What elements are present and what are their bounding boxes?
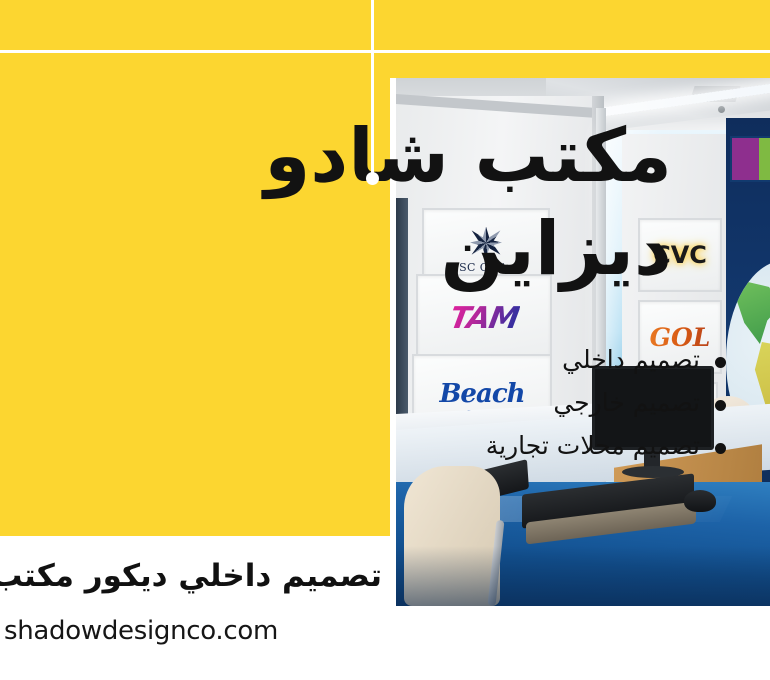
footer-band: تصميم داخلي ديكور مكتب shadowdesignco.co…: [0, 536, 396, 680]
service-label: تصميم محلات تجارية: [486, 431, 700, 460]
service-label: تصميم خارجي: [553, 388, 700, 417]
photo-bottom-shading: [396, 546, 770, 606]
computer-mouse: [684, 490, 716, 512]
map-continent-north: [736, 282, 770, 344]
yellow-top-strip: [390, 0, 770, 78]
line-end-dot: [366, 172, 379, 185]
poster-canvas: MSC Cruises TAM Beach PARK CVC GOL: [0, 0, 770, 680]
list-item: تصميم خارجي: [398, 381, 728, 424]
colour-banner-strip: [730, 136, 770, 182]
vertical-guide-line: [371, 0, 374, 178]
service-label: تصميم داخلي: [562, 345, 700, 374]
list-item: تصميم محلات تجارية: [398, 424, 728, 467]
ceiling-spotlight: [718, 106, 725, 113]
footer-headline: تصميم داخلي ديكور مكتب: [0, 558, 382, 594]
footer-band-right: [396, 606, 770, 680]
sign-label: TAM: [447, 301, 521, 336]
list-item: تصميم داخلي: [398, 338, 728, 381]
banner-panel-3: [759, 138, 770, 180]
website-url[interactable]: shadowdesignco.com: [4, 616, 278, 646]
services-list: تصميم داخلي تصميم خارجي تصميم محلات تجار…: [398, 338, 728, 467]
page-title-line-2: ديزاين: [72, 196, 672, 303]
banner-panel-4: [732, 138, 759, 180]
horizontal-guide-line: [0, 50, 770, 53]
